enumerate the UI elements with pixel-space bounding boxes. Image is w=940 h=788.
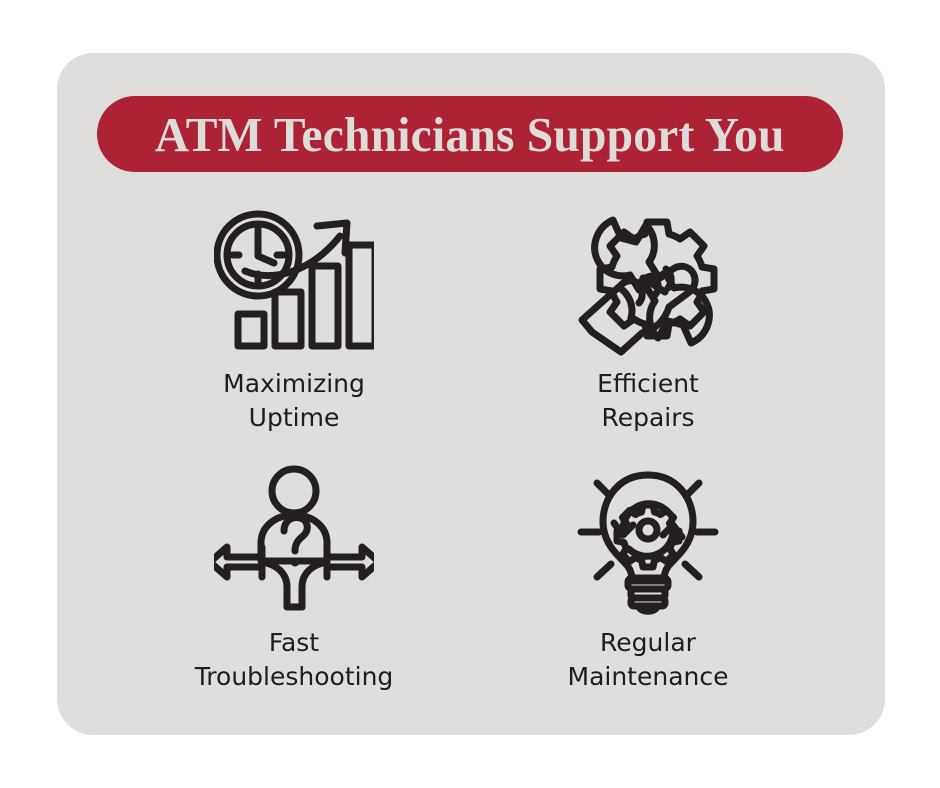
- feature-label: Regular Maintenance: [568, 626, 729, 694]
- feature-item-maximizing-uptime: Maximizing Uptime: [117, 201, 471, 452]
- feature-label: Fast Troubleshooting: [195, 626, 394, 694]
- hand-wrench-gear-icon: [573, 201, 723, 361]
- feature-grid: Maximizing Uptime: [117, 201, 825, 711]
- title-banner: ATM Technicians Support You: [97, 96, 843, 172]
- clock-growth-chart-icon: [214, 201, 374, 361]
- lightbulb-gear-refresh-icon: [573, 460, 723, 620]
- feature-item-regular-maintenance: Regular Maintenance: [471, 460, 825, 711]
- feature-item-fast-troubleshooting: Fast Troubleshooting: [117, 460, 471, 711]
- feature-label: Maximizing Uptime: [223, 367, 365, 435]
- content-card: ATM Technicians Support You: [57, 53, 885, 735]
- page-title: ATM Technicians Support You: [155, 110, 785, 159]
- person-question-arrows-icon: [214, 460, 374, 620]
- feature-label: Efficient Repairs: [597, 367, 699, 435]
- feature-item-efficient-repairs: Efficient Repairs: [471, 201, 825, 452]
- infographic-root: ATM Technicians Support You: [0, 0, 940, 788]
